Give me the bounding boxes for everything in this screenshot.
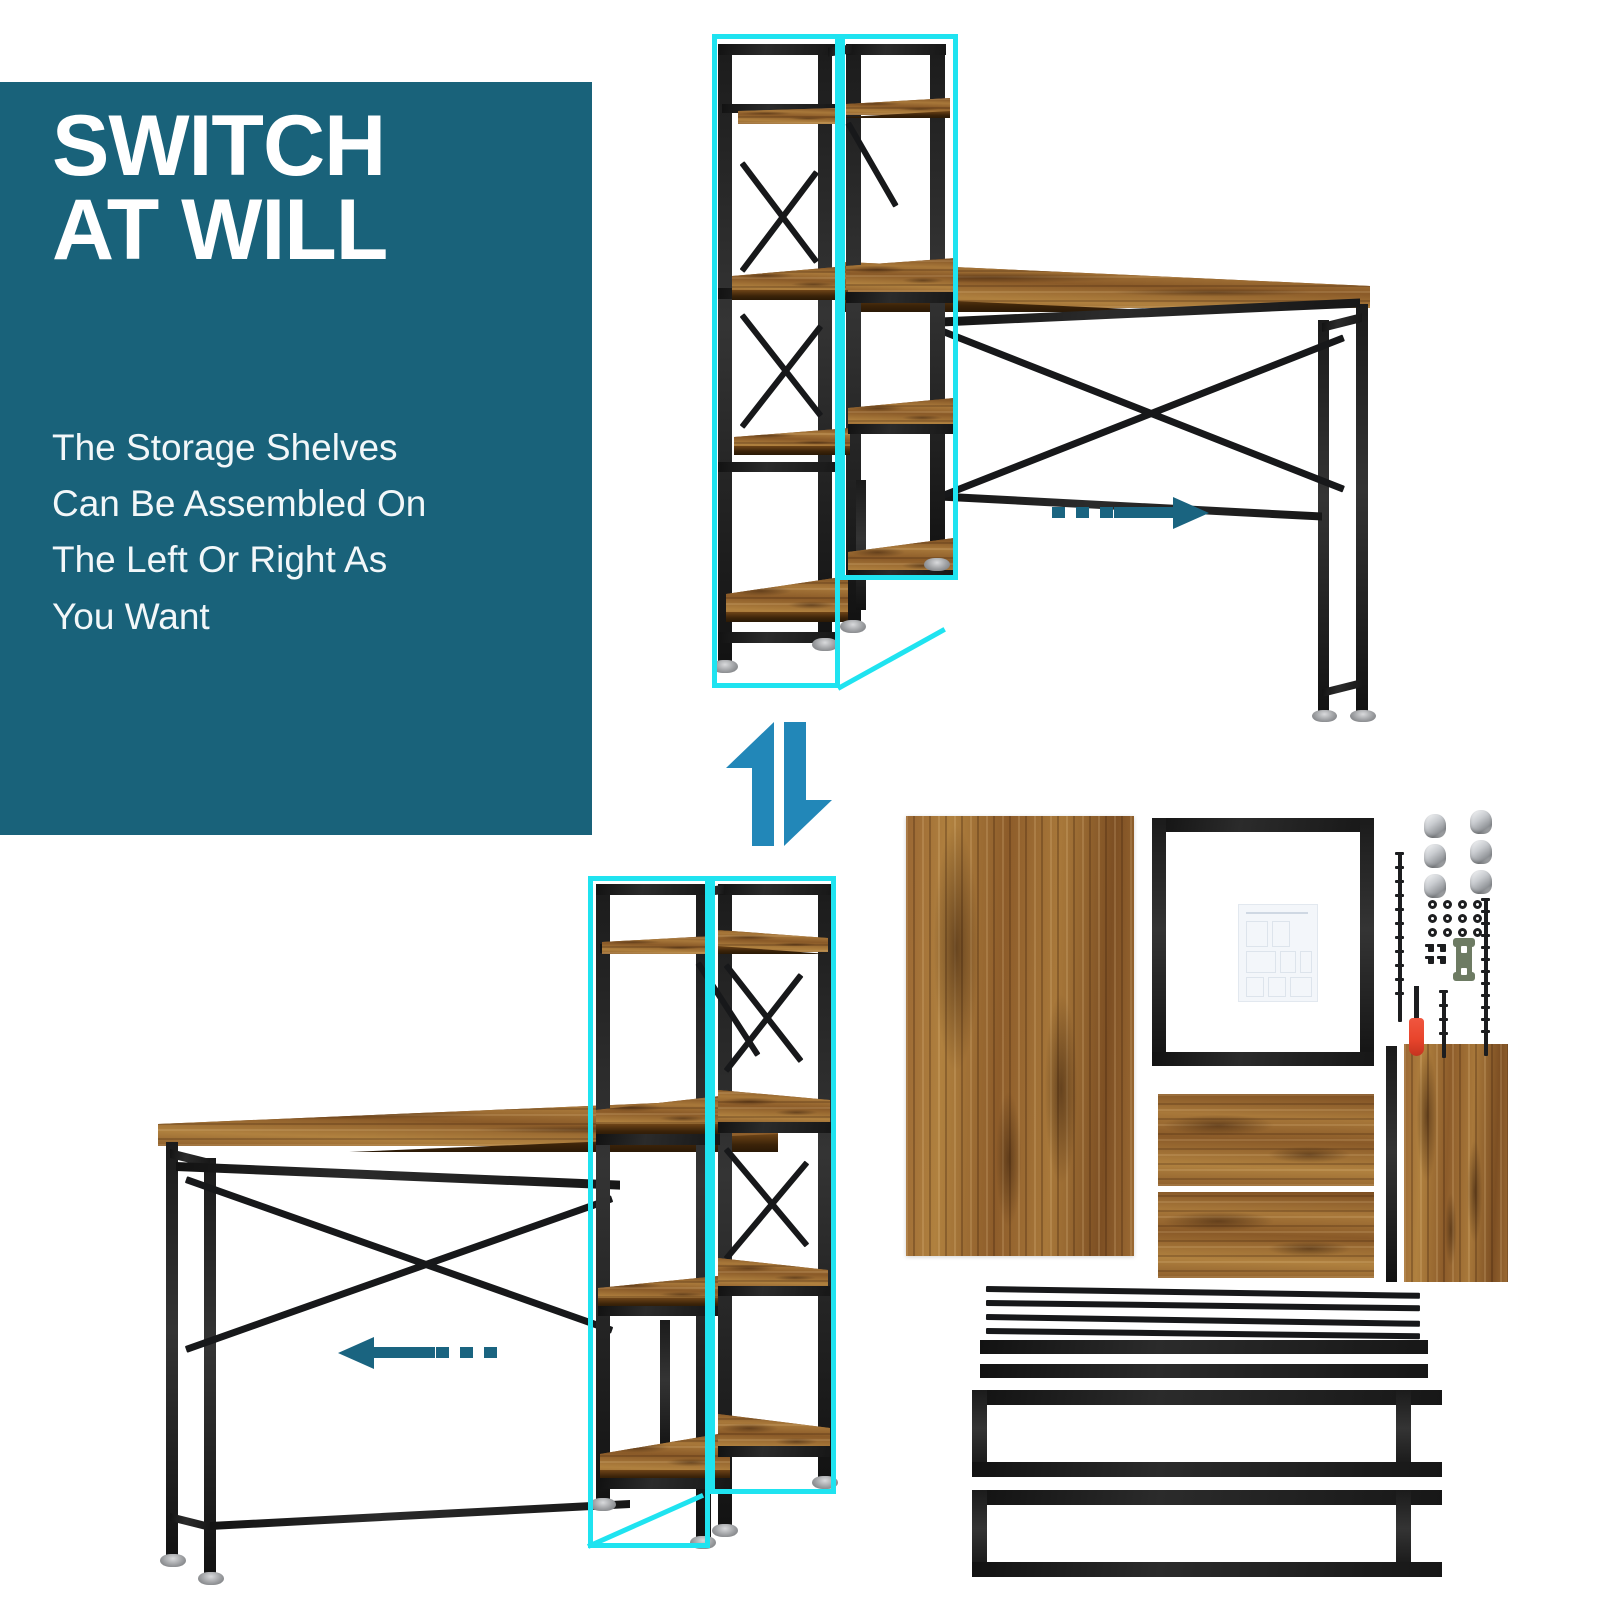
- desk2-brace-diagonal-b: [185, 1195, 613, 1352]
- desk2-leg-rear-left: [166, 1142, 178, 1560]
- part-shelf-board-lower: [1158, 1192, 1374, 1278]
- panel-subcopy: The Storage Shelves Can Be Assembled On …: [52, 420, 552, 645]
- highlight-box-rear: [712, 34, 840, 688]
- direction-arrow-left: [338, 1336, 500, 1370]
- highlight2-box-front: [588, 876, 710, 1548]
- shelf-foot-front-left: [840, 620, 866, 633]
- part-leveling-foot: [1470, 840, 1492, 864]
- page-title: SWITCH AT WILL: [52, 104, 572, 273]
- part-leveling-foot: [1470, 810, 1492, 834]
- desk2-lower-rail: [210, 1500, 630, 1530]
- part-support-beam: [980, 1364, 1428, 1378]
- product-feature-graphic: SWITCH AT WILL The Storage Shelves Can B…: [0, 0, 1600, 1600]
- direction-arrow-right: [1052, 496, 1212, 530]
- part-instruction-manual: [1238, 904, 1318, 1002]
- part-washer: [1458, 914, 1467, 923]
- part-washer: [1458, 928, 1467, 937]
- part-washer: [1428, 914, 1437, 923]
- part-side-panel: [1404, 1044, 1508, 1282]
- part-leveling-foot: [1424, 814, 1446, 838]
- desk-foot-front-right: [1312, 710, 1337, 722]
- highlight2-box-rear: [710, 876, 836, 1494]
- desk2-leg-front-left: [204, 1158, 216, 1578]
- part-desktop-panel: [906, 816, 1134, 1256]
- part-washer: [1443, 900, 1452, 909]
- part-washer: [1443, 914, 1452, 923]
- switch-arrows-icon: [726, 722, 838, 846]
- part-leveling-foot: [1424, 874, 1446, 898]
- desk2-brace-diagonal-a: [185, 1176, 613, 1333]
- highlight-edge-diagonal: [837, 627, 946, 691]
- part-washer: [1443, 928, 1452, 937]
- desk-brace-diagonal-a: [937, 326, 1345, 492]
- desk2-rear-rail: [176, 1162, 620, 1190]
- highlight-box-front: [840, 34, 958, 580]
- part-leveling-foot: [1470, 870, 1492, 894]
- shelf2-foot-rear-left: [712, 1524, 738, 1537]
- desk-foot-rear-right: [1350, 710, 1376, 722]
- part-shelf-board-upper: [1158, 1094, 1374, 1186]
- desk2-foot-front-left: [198, 1572, 224, 1585]
- desk-brace-diagonal-b: [937, 334, 1345, 500]
- part-vertical-rod: [1386, 1046, 1397, 1282]
- part-washer: [1473, 900, 1482, 909]
- part-washer: [1428, 900, 1437, 909]
- part-leveling-foot: [1424, 844, 1446, 868]
- part-washer: [1458, 900, 1467, 909]
- desk2-foot-rear-left: [160, 1554, 186, 1567]
- part-support-beam: [980, 1340, 1428, 1354]
- part-washer: [1428, 928, 1437, 937]
- desk-leg-rear-right: [1356, 304, 1368, 716]
